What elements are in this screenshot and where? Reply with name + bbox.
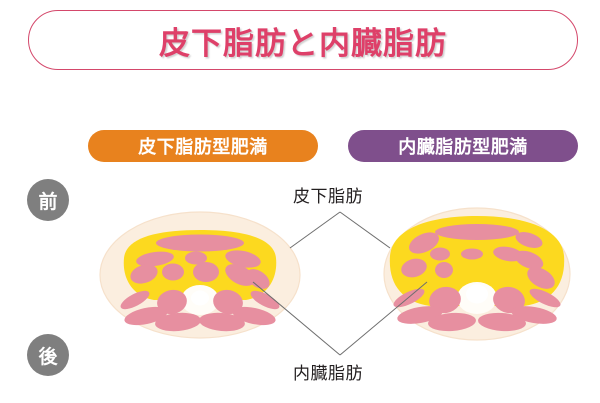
subcutaneous-obesity-cross-section: [100, 212, 300, 338]
spinal-canal-left: [191, 291, 209, 306]
spinal-canal-right: [466, 285, 488, 304]
visceral-obesity-cross-section: [384, 208, 570, 340]
leader-line-subcutaneous-fat: [290, 212, 390, 248]
cross-section-illustrations: [0, 0, 600, 403]
